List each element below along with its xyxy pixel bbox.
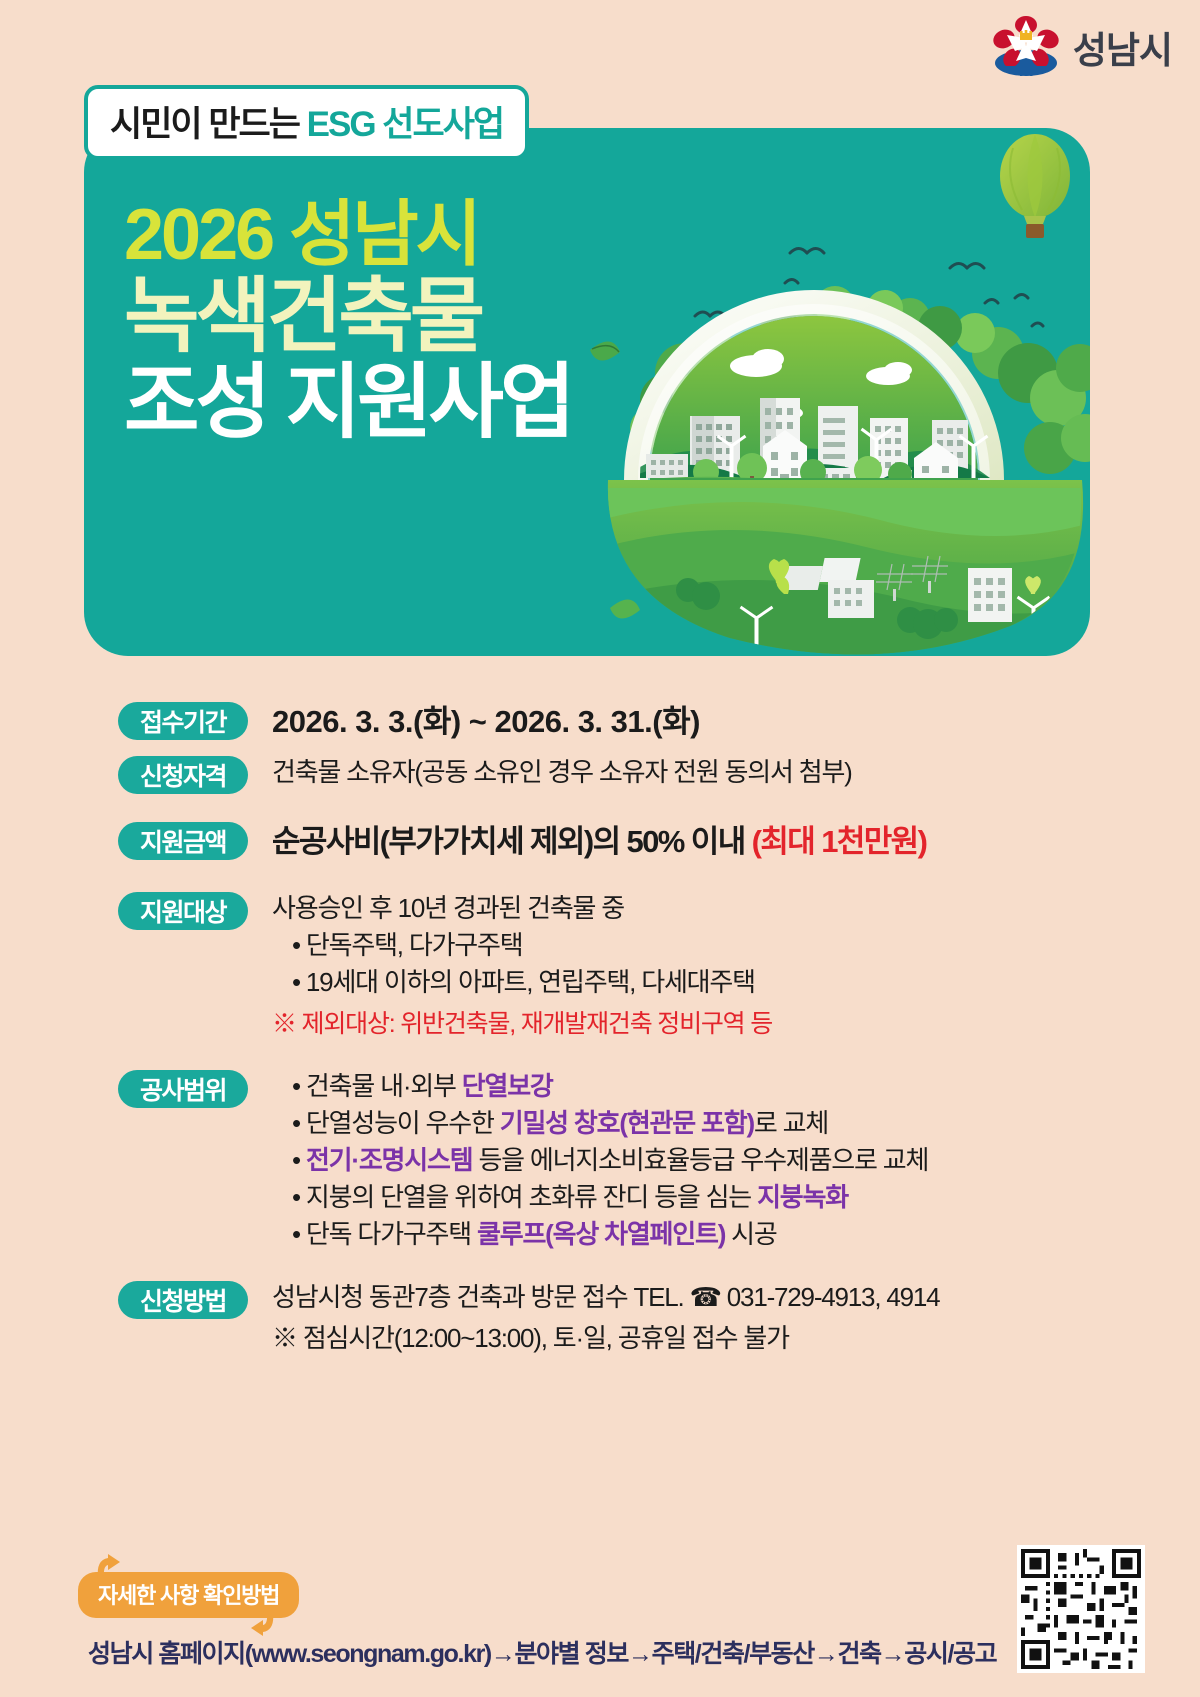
floating-leaf-icon xyxy=(590,341,620,360)
value-apply-note: ※ 점심시간(12:00~13:00), 토·일, 공휴일 접수 불가 xyxy=(272,1320,1098,1357)
info-row-work-scope: 공사범위 • 건축물 내·외부 단열보강 • 단열성능이 우수한 기밀성 창호(… xyxy=(118,1068,1098,1253)
ws1-highlight: 단열보강 xyxy=(462,1071,553,1101)
value-application-period: 2026. 3. 3.(화) ~ 2026. 3. 31.(화) xyxy=(272,700,1098,744)
kicker-part2: ESG 선도사업 xyxy=(307,105,503,144)
ws5-lead: • 단독 다가구주택 xyxy=(292,1219,477,1249)
green-city-illustration xyxy=(580,128,1090,656)
city-logo: 성남시 xyxy=(993,16,1172,78)
hero-panel: 2026 성남시 녹색건축물 조성 지원사업 xyxy=(84,128,1090,656)
hero-title: 2026 성남시 녹색건축물 조성 지원사업 xyxy=(124,200,571,443)
tag-eligibility: 신청자격 xyxy=(118,756,248,794)
ws3-tail: 등을 에너지소비효율등급 우수제품으로 교체 xyxy=(472,1145,928,1175)
ws5-tail: 시공 xyxy=(725,1219,776,1249)
info-row-eligibility: 신청자격 건축물 소유자(공동 소유인 경우 소유자 전원 동의서 첨부) xyxy=(118,754,1098,794)
value-target-item-2: • 19세대 이하의 아파트, 연립주택, 다세대주택 xyxy=(272,964,1098,1001)
ws3-highlight: 전기·조명시스템 xyxy=(306,1145,473,1175)
seongnam-flower-logo-icon xyxy=(993,16,1059,78)
work-scope-item-5: • 단독 다가구주택 쿨루프(옥상 차열페인트) 시공 xyxy=(272,1216,1098,1253)
work-scope-item-2: • 단열성능이 우수한 기밀성 창호(현관문 포함)로 교체 xyxy=(272,1105,1098,1142)
work-scope-item-4: • 지붕의 단열을 위하여 초화류 잔디 등을 심는 지붕녹화 xyxy=(272,1179,1098,1216)
value-target-intro: 사용승인 후 10년 경과된 건축물 중 xyxy=(272,890,1098,927)
info-row-application-period: 접수기간 2026. 3. 3.(화) ~ 2026. 3. 31.(화) xyxy=(118,700,1098,744)
kicker-part1: 시민이 만드는 xyxy=(110,105,307,144)
hero-title-line3: 조성 지원사업 xyxy=(124,363,571,443)
support-amount-max: (최대 1천만원) xyxy=(752,824,927,859)
ws2-highlight: 기밀성 창호(현관문 포함) xyxy=(500,1108,754,1138)
ws2-lead: • 단열성능이 우수한 xyxy=(292,1108,500,1138)
tag-work-scope: 공사범위 xyxy=(118,1070,248,1108)
value-target-item-1: • 단독주택, 다가구주택 xyxy=(272,927,1098,964)
ws1-lead: • 건축물 내·외부 xyxy=(292,1071,462,1101)
ws2-tail: 로 교체 xyxy=(754,1108,828,1138)
ws4-lead: • 지붕의 단열을 위하여 초화류 잔디 등을 심는 xyxy=(292,1182,757,1212)
arrow-up-icon xyxy=(94,1554,120,1578)
ws3-lead: • xyxy=(292,1145,306,1175)
value-apply-location: 성남시청 동관7층 건축과 방문 접수 TEL. ☎ 031-729-4913,… xyxy=(272,1279,1098,1316)
kicker-ribbon: 시민이 만드는 ESG 선도사업 xyxy=(84,85,529,160)
work-scope-item-3: • 전기·조명시스템 등을 에너지소비효율등급 우수제품으로 교체 xyxy=(272,1142,1098,1179)
value-target-exclusion: ※ 제외대상: 위반건축물, 재개발재건축 정비구역 등 xyxy=(272,1007,1098,1043)
arrow-down-icon xyxy=(251,1612,277,1636)
value-support-amount: 순공사비(부가가치세 제외)의 50% 이내 (최대 1천만원) xyxy=(272,820,1098,864)
hero-title-line2: 녹색건축물 xyxy=(124,277,571,357)
tag-application-period: 접수기간 xyxy=(118,702,248,740)
floating-leaf-icon-2 xyxy=(610,599,640,618)
footer-badge-label: 자세한 사항 확인방법 xyxy=(98,1583,279,1608)
info-row-support-amount: 지원금액 순공사비(부가가치세 제외)의 50% 이내 (최대 1천만원) xyxy=(118,820,1098,864)
hero-title-line1: 2026 성남시 xyxy=(124,200,571,271)
info-row-how-to-apply: 신청방법 성남시청 동관7층 건축과 방문 접수 TEL. ☎ 031-729-… xyxy=(118,1279,1098,1357)
ws5-highlight: 쿨루프(옥상 차열페인트) xyxy=(477,1219,725,1249)
city-logo-label: 성남시 xyxy=(1073,20,1172,74)
support-amount-main: 순공사비(부가가치세 제외)의 50% 이내 xyxy=(272,824,745,859)
qr-code-icon[interactable] xyxy=(1017,1545,1145,1673)
tag-support-amount: 지원금액 xyxy=(118,822,248,860)
tag-target: 지원대상 xyxy=(118,892,248,930)
value-eligibility: 건축물 소유자(공동 소유인 경우 소유자 전원 동의서 첨부) xyxy=(272,754,1098,791)
info-list: 접수기간 2026. 3. 3.(화) ~ 2026. 3. 31.(화) 신청… xyxy=(118,700,1098,1364)
hot-air-balloon-icon xyxy=(1000,134,1070,238)
work-scope-item-1: • 건축물 내·외부 단열보강 xyxy=(272,1068,1098,1105)
ws4-highlight: 지붕녹화 xyxy=(757,1182,848,1212)
tag-how-to-apply: 신청방법 xyxy=(118,1281,248,1319)
info-row-target: 지원대상 사용승인 후 10년 경과된 건축물 중 • 단독주택, 다가구주택 … xyxy=(118,890,1098,1042)
footer-navigation-path: 성남시 홈페이지(www.seongnam.go.kr)→분야별 정보→주택/건… xyxy=(88,1634,996,1670)
footer-badge: 자세한 사항 확인방법 xyxy=(78,1572,299,1618)
